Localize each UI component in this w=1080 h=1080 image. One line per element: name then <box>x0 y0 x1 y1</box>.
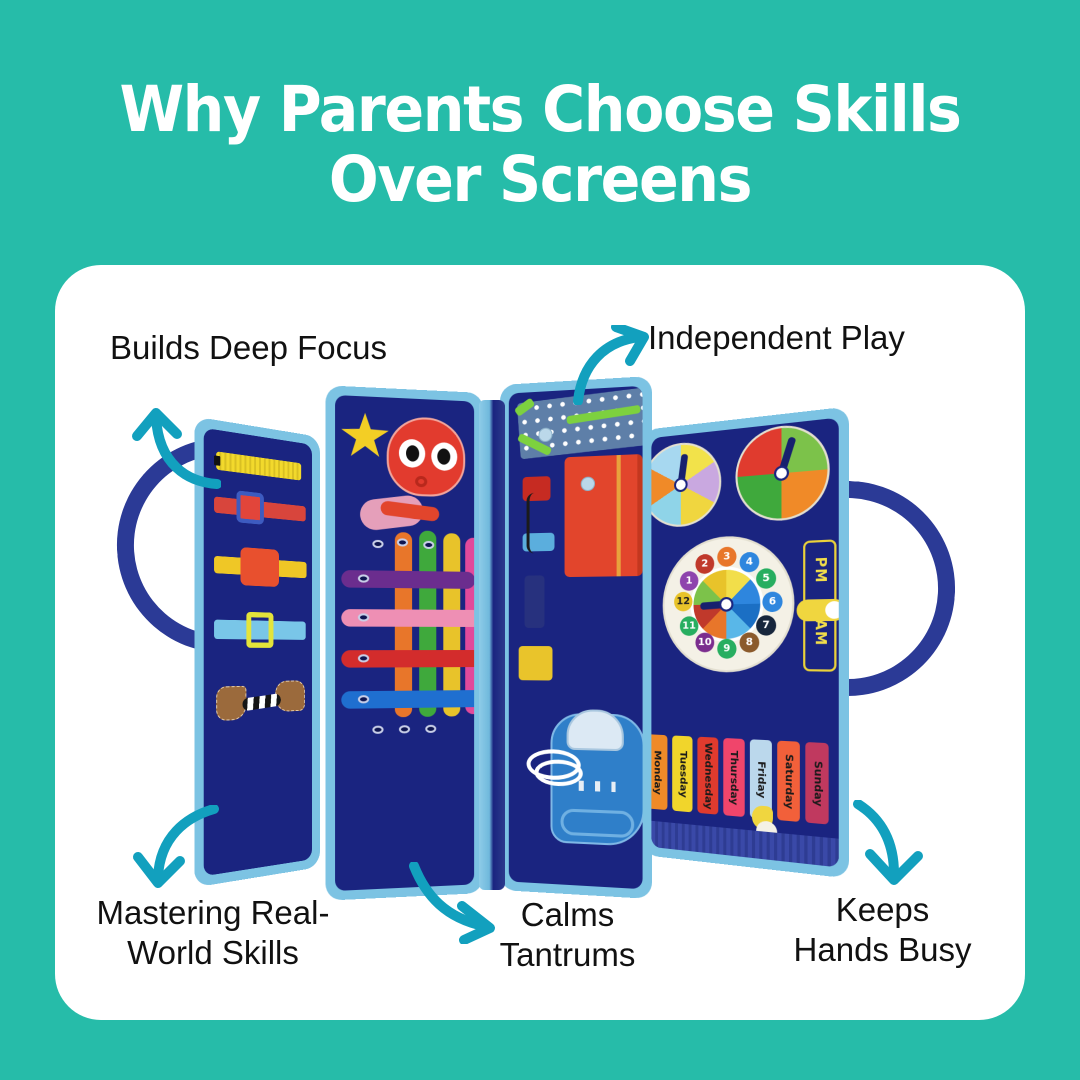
callout-label-builds-deep-focus: Builds Deep Focus <box>110 328 387 368</box>
curved-arrow-down-left-icon <box>128 805 222 897</box>
callout-label-mastering-real-world-skills: Mastering Real- World Skills <box>83 893 343 973</box>
curved-arrow-down-icon <box>848 800 938 892</box>
title-line-1: Why Parents Choose Skills <box>38 78 1042 141</box>
curved-arrow-up-left-icon <box>125 398 221 490</box>
callout-label-independent-play: Independent Play <box>648 318 905 358</box>
page-title: Why Parents Choose Skills Over Screens <box>0 78 1080 211</box>
callout-label-keeps-hands-busy: Keeps Hands Busy <box>775 890 990 970</box>
title-line-2: Over Screens <box>38 148 1042 211</box>
callout-label-calms-tantrums: Calms Tantrums <box>480 895 655 975</box>
